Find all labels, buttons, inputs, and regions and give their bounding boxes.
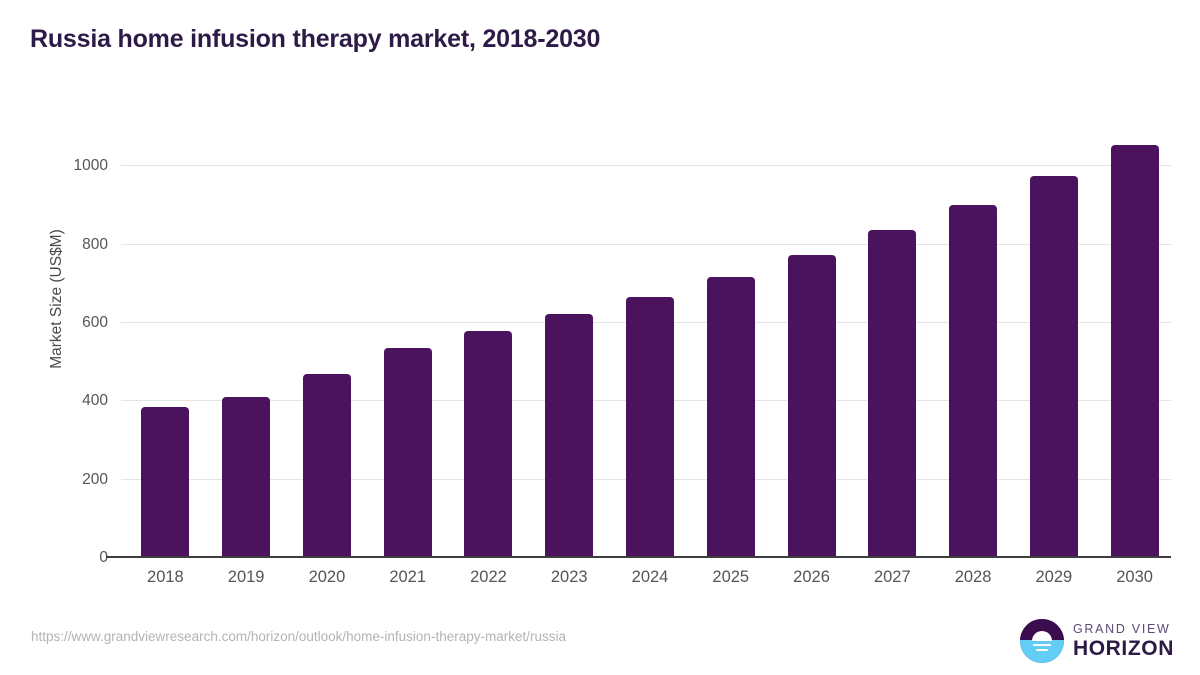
bar[interactable] [788, 255, 836, 558]
x-axis-tick-label: 2030 [1094, 568, 1176, 587]
x-axis-tick-label: 2026 [771, 568, 853, 587]
brand-name-secondary: HORIZON [1073, 638, 1174, 659]
bar[interactable] [1030, 176, 1078, 558]
x-axis-tick-label: 2020 [286, 568, 368, 587]
bar[interactable] [141, 407, 189, 558]
x-axis-tick-label: 2023 [528, 568, 610, 587]
bar[interactable] [626, 297, 674, 558]
gridline [121, 244, 1171, 245]
horizon-sun-circle-icon [1020, 619, 1064, 663]
x-axis-tick-label: 2021 [367, 568, 449, 587]
x-axis-tick-label: 2028 [932, 568, 1014, 587]
y-axis-tick-label: 1000 [74, 157, 108, 175]
y-axis-tick-labels: 02004006008001000 [40, 127, 108, 558]
gridline [121, 165, 1171, 166]
x-axis-tick-label: 2022 [447, 568, 529, 587]
logo-ray-lower [1036, 649, 1048, 652]
bar[interactable] [1111, 145, 1159, 558]
x-axis-tick-label: 2027 [851, 568, 933, 587]
y-axis-tick-label: 800 [82, 236, 108, 254]
page-title: Russia home infusion therapy market, 201… [30, 25, 600, 54]
y-axis-tick-label: 600 [82, 314, 108, 332]
x-axis-tick-label: 2029 [1013, 568, 1095, 587]
bar[interactable] [464, 331, 512, 558]
bar[interactable] [949, 205, 997, 558]
x-axis-tick-label: 2018 [124, 568, 206, 587]
bar[interactable] [868, 230, 916, 558]
bar[interactable] [545, 314, 593, 558]
chart-canvas: Russia home infusion therapy market, 201… [0, 0, 1200, 675]
x-axis-tick-label: 2025 [690, 568, 772, 587]
plot-area [121, 127, 1171, 558]
y-axis-tick-label: 400 [82, 392, 108, 410]
brand-name-primary: GRAND VIEW [1073, 623, 1174, 636]
brand-logo-text: GRAND VIEW HORIZON [1073, 623, 1174, 660]
x-axis-tick-label: 2019 [205, 568, 287, 587]
x-axis-tick-label: 2024 [609, 568, 691, 587]
source-url[interactable]: https://www.grandviewresearch.com/horizo… [31, 629, 566, 644]
y-axis-tick-label: 0 [99, 549, 108, 567]
bar[interactable] [303, 374, 351, 558]
bar[interactable] [222, 397, 270, 558]
y-axis-tick-label: 200 [82, 471, 108, 489]
x-axis-line [106, 556, 1171, 558]
bar[interactable] [707, 277, 755, 558]
logo-ray-upper [1033, 644, 1051, 647]
brand-logo[interactable]: GRAND VIEW HORIZON [1020, 619, 1174, 663]
bar[interactable] [384, 348, 432, 558]
